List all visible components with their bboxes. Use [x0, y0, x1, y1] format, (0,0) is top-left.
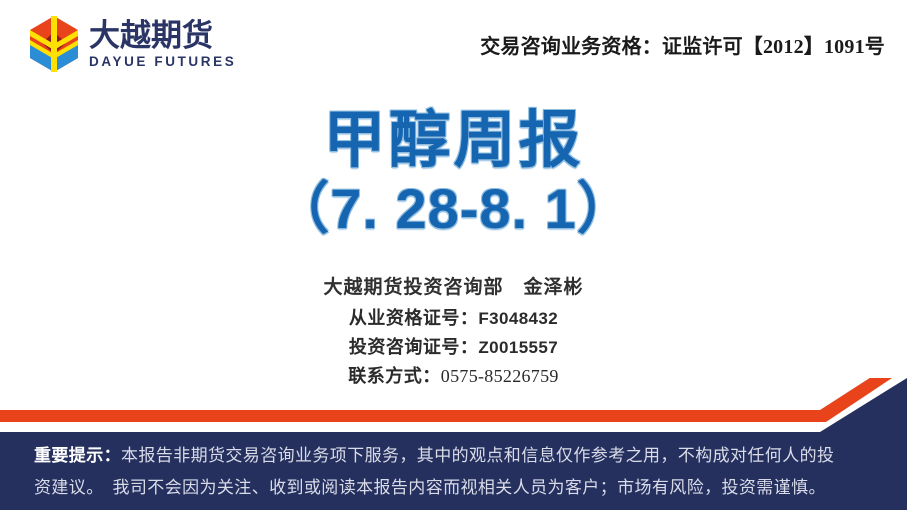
- footer-line-1-text: 本报告非期货交易咨询业务项下服务，其中的观点和信息仅作参考之用，不构成对任何人的…: [121, 446, 834, 465]
- credential-row-qualification: 从业资格证号：F3048432: [0, 304, 907, 333]
- credential-row-consulting: 投资咨询证号：Z0015557: [0, 333, 907, 362]
- credential-value: Z0015557: [478, 338, 558, 357]
- slide-root: 大越期货 DAYUE FUTURES 交易咨询业务资格：证监许可【2012】10…: [0, 0, 907, 510]
- footer-line-1: 重要提示：本报告非期货交易咨询业务项下服务，其中的观点和信息仅作参考之用，不构成…: [34, 440, 873, 472]
- brand-name-cn: 大越期货: [89, 20, 236, 53]
- report-title: 甲醇周报: [0, 108, 907, 173]
- title-block: 甲醇周报 （7. 28-8. 1）: [0, 108, 907, 241]
- orange-accent-stripe: [0, 378, 907, 422]
- author-department-line: 大越期货投资咨询部 金泽彬: [0, 272, 907, 299]
- white-sliver-shape: [0, 378, 907, 430]
- brand-name-en: DAYUE FUTURES: [89, 54, 236, 70]
- footer-line-2: 资建议。 我司不会因为关注、收到或阅读本报告内容而视相关人员为客户；市场有风险，…: [34, 472, 873, 504]
- report-date-range: （7. 28-8. 1）: [0, 177, 907, 241]
- credential-label: 从业资格证号：: [349, 308, 479, 328]
- footer-disclaimer: 重要提示：本报告非期货交易咨询业务项下服务，其中的观点和信息仅作参考之用，不构成…: [0, 440, 907, 504]
- slide-header: 大越期货 DAYUE FUTURES 交易咨询业务资格：证监许可【2012】10…: [0, 0, 907, 92]
- credential-value: F3048432: [478, 309, 558, 328]
- brand-lockup: 大越期货 DAYUE FUTURES: [26, 14, 236, 74]
- footer-notice-label: 重要提示：: [34, 446, 121, 465]
- brand-text: 大越期货 DAYUE FUTURES: [89, 18, 236, 71]
- dayue-hexagon-logo-icon: [26, 14, 82, 74]
- license-statement: 交易咨询业务资格：证监许可【2012】1091号: [480, 30, 885, 59]
- credential-label: 投资咨询证号：: [349, 337, 479, 357]
